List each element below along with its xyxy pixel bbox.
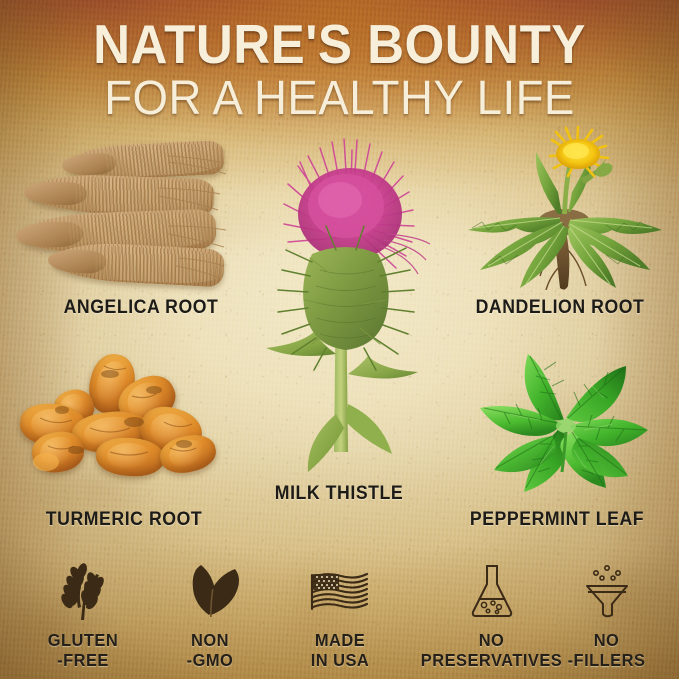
funnel-icon <box>534 560 679 622</box>
caption-turmeric-root: TURMERIC ROOT <box>46 509 202 531</box>
peppermint-illustration <box>452 336 670 504</box>
headline-secondary: FOR A HEALTHY LIFE <box>17 74 662 124</box>
badge-made-in-usa-line2: IN USA <box>277 650 403 671</box>
turmeric-root-markings <box>14 352 229 480</box>
dandelion-illustration <box>452 118 674 290</box>
badge-no-fillers-line2: -FILLERS <box>538 650 674 671</box>
badge-no-fillers-label: NO -FILLERS <box>538 630 674 671</box>
badge-made-in-usa-label: MADE IN USA <box>277 630 403 671</box>
wheat-stalk-icon <box>16 560 150 622</box>
caption-peppermint-leaf: PEPPERMINT LEAF <box>470 509 644 531</box>
caption-angelica-root: ANGELICA ROOT <box>64 297 219 319</box>
headline-block: NATURE'S BOUNTY FOR A HEALTHY LIFE <box>0 16 679 124</box>
angelica-root-fibers <box>18 142 233 290</box>
caption-dandelion-root: DANDELION ROOT <box>476 297 645 319</box>
angelica-root-photo <box>18 142 233 290</box>
badge-non-gmo-label: NON -GMO <box>147 630 273 671</box>
badge-gluten-free-label: GLUTEN -FREE <box>20 630 146 671</box>
usa-flag-icon <box>273 560 407 622</box>
badge-gluten-free-line1: GLUTEN <box>20 630 146 651</box>
badge-no-fillers: NO -FILLERS <box>534 560 679 671</box>
badge-made-in-usa: MADE IN USA <box>273 560 407 671</box>
badge-no-fillers-line1: NO <box>538 630 674 651</box>
badge-non-gmo-line2: -GMO <box>147 650 273 671</box>
caption-milk-thistle: MILK THISTLE <box>275 483 403 505</box>
leaves-icon <box>143 560 277 622</box>
dandelion-root-photo <box>452 118 674 290</box>
nature-bounty-poster: NATURE'S BOUNTY FOR A HEALTHY LIFE ANGEL… <box>0 0 679 679</box>
turmeric-root-photo <box>14 352 229 480</box>
headline-primary: NATURE'S BOUNTY <box>24 16 655 72</box>
badge-made-in-usa-line1: MADE <box>277 630 403 651</box>
milk-thistle-photo <box>240 122 450 482</box>
milk-thistle-illustration <box>240 122 450 482</box>
badge-non-gmo-line1: NON <box>147 630 273 651</box>
peppermint-leaf-photo <box>452 336 670 504</box>
badge-gluten-free-line2: -FREE <box>20 650 146 671</box>
badge-non-gmo: NON -GMO <box>143 560 277 671</box>
badge-gluten-free: GLUTEN -FREE <box>16 560 150 671</box>
